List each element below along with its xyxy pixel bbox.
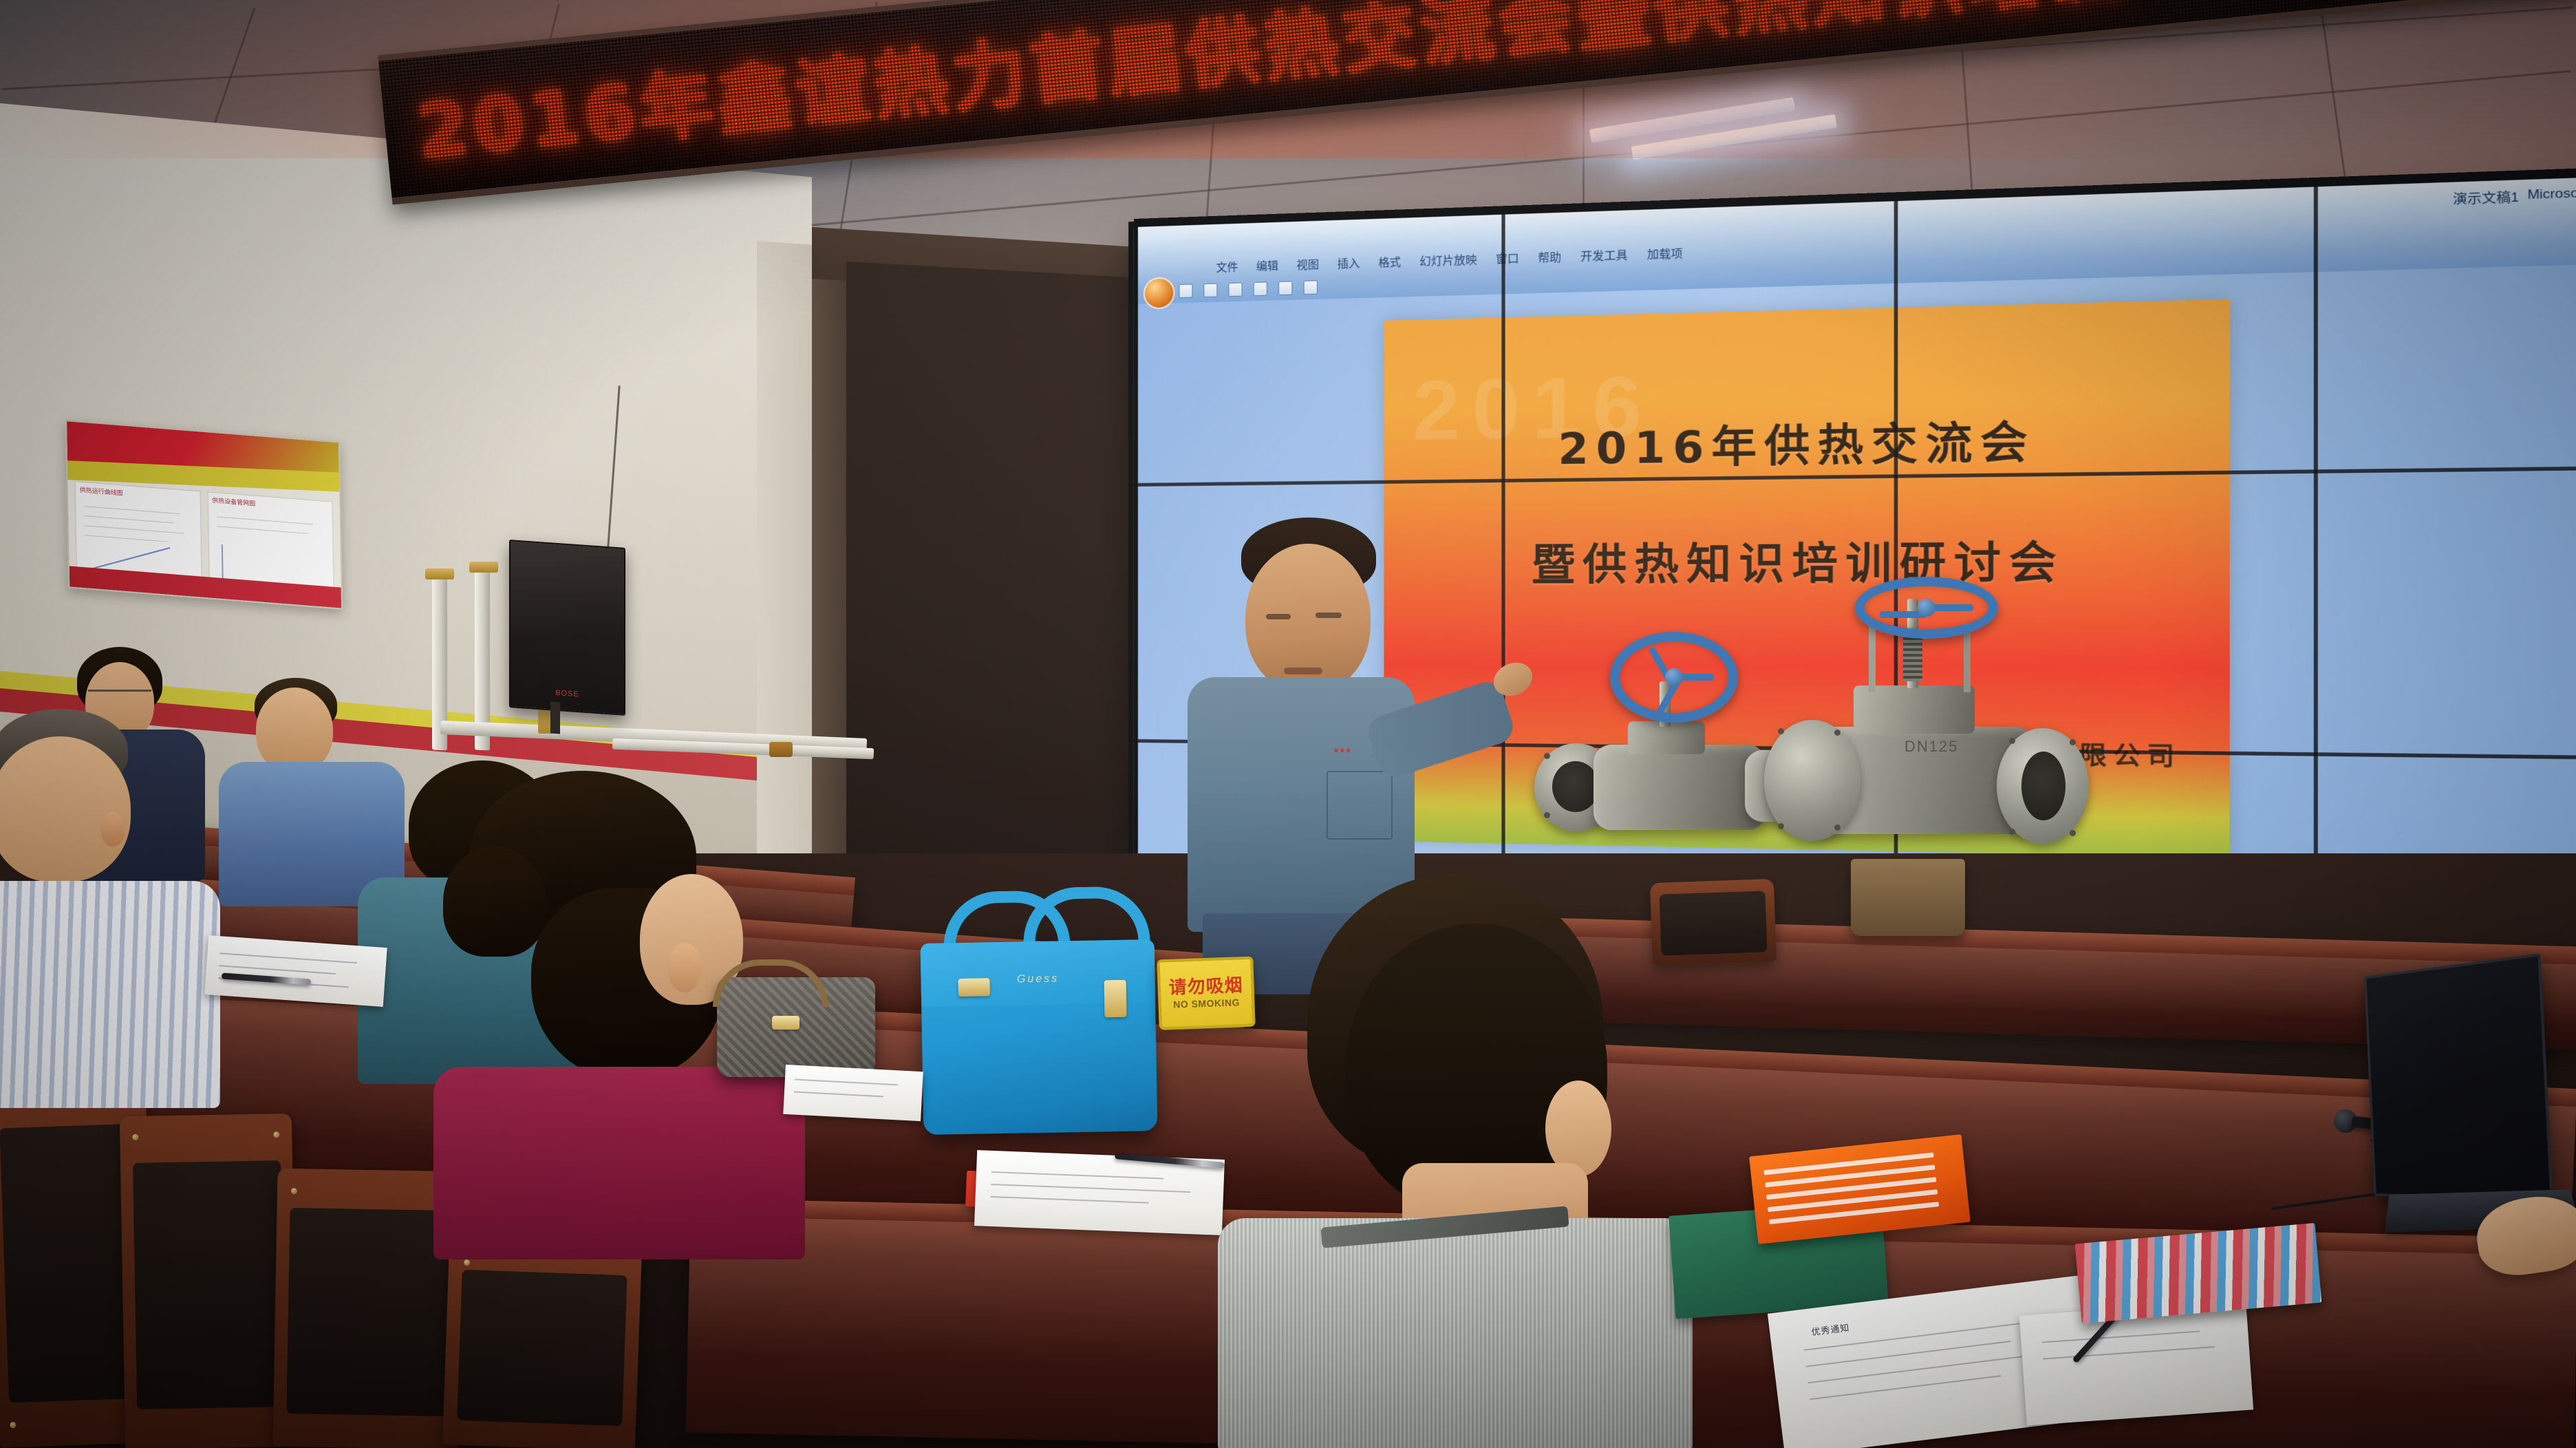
person-attendee-striped [0,709,248,1094]
powerpoint-app-title: Microsoft PowerPoint [2527,182,2576,202]
menu-item[interactable]: 幻灯片放映 [1419,250,1477,268]
speaker-bracket [550,702,560,734]
speaker-brand-label: BOSE [555,689,579,699]
handbag-gray[interactable] [717,977,875,1077]
shirt-pocket [1327,771,1393,840]
paper-document[interactable] [783,1065,923,1121]
menu-item[interactable]: 插入 [1338,254,1360,271]
slide-title-line-2: 暨供热知识培训研讨会 [1384,526,2229,593]
chair[interactable] [442,1241,642,1448]
conference-room-scene: 供热运行曲线图 供热设备管网图 BOSE [0,0,2576,1448]
laptop-screen[interactable] [2364,953,2553,1200]
paper-heading: 优秀通知 [1810,1320,1850,1338]
valve-handwheel[interactable] [1610,632,1738,723]
save-icon[interactable] [1228,282,1242,297]
person-attendee-gray-polo [1218,874,1693,1448]
handbag-blue[interactable]: Guess [921,939,1158,1135]
menu-item[interactable]: 编辑 [1256,256,1278,273]
presenter-shirt-logo: ●●● [1333,745,1352,755]
menu-item[interactable]: 加载项 [1647,244,1683,262]
valve-handwheel[interactable] [1855,577,1998,639]
powerpoint-doc-title: 演示文稿1 [2453,186,2519,207]
menu-item[interactable]: 视图 [1296,255,1319,273]
eyeglasses-icon [88,690,151,703]
valve-stand [1851,859,1965,936]
menu-item[interactable]: 窗口 [1496,249,1519,267]
paper-document[interactable] [204,935,387,1007]
ear [1545,1080,1611,1177]
chair[interactable] [1650,879,1777,966]
wall-poster: 供热运行曲线图 供热设备管网图 [65,420,343,610]
valve-cast-mark: DN125 [1904,738,1958,756]
wall-speaker: BOSE [509,540,625,716]
ear [667,943,702,992]
open-icon[interactable] [1203,283,1217,297]
handbag-brand-logo: Guess [1017,972,1060,986]
ear [100,812,125,847]
menu-item[interactable]: 格式 [1378,253,1401,270]
menu-item[interactable]: 帮助 [1538,248,1561,266]
new-icon[interactable] [1179,284,1192,299]
chair[interactable] [120,1114,297,1448]
menu-item[interactable]: 开发工具 [1580,246,1628,264]
undo-icon[interactable] [1278,281,1292,295]
gate-valve-large: DN125 [1748,592,2174,881]
valve-stem-threads [1903,632,1922,681]
poster-chart-right-title: 供热设备管网图 [212,496,255,508]
redo-icon[interactable] [1304,280,1318,295]
poster-chart-left-title: 供热运行曲线图 [80,485,123,498]
menu-item[interactable]: 文件 [1216,257,1238,275]
print-icon[interactable] [1254,281,1267,296]
